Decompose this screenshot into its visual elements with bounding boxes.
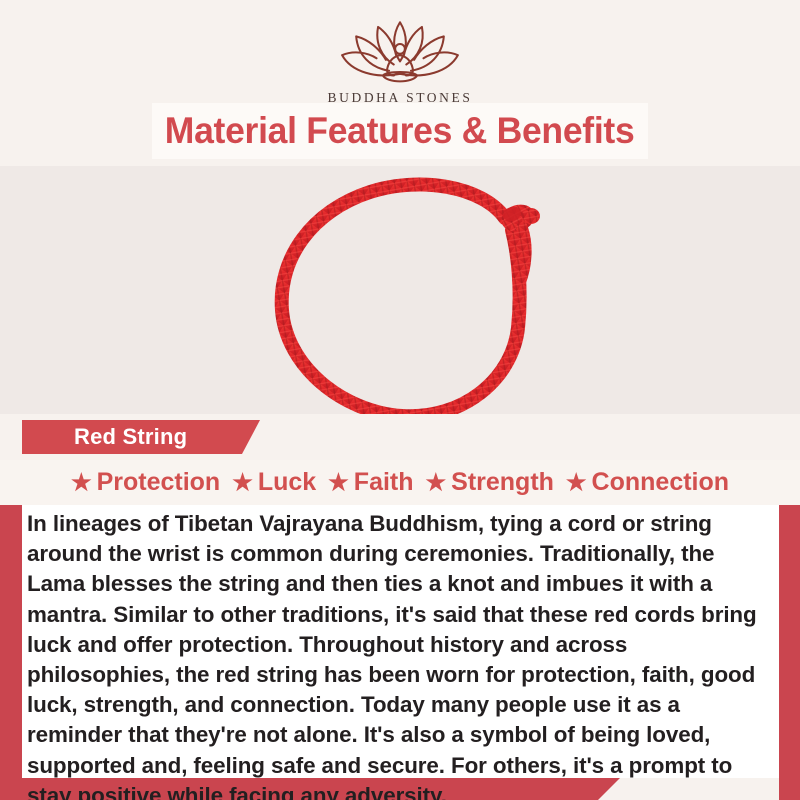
star-icon: ★ (71, 471, 92, 494)
lotus-meditation-figure-icon (320, 16, 480, 88)
feature-label: Connection (592, 468, 730, 497)
brand-logo: BUDDHA STONES (0, 16, 800, 106)
description-text: In lineages of Tibetan Vajrayana Buddhis… (27, 509, 772, 800)
feature-label: Strength (451, 468, 554, 497)
feature-item-protection: ★ Protection (71, 468, 220, 497)
star-icon: ★ (566, 471, 587, 494)
infographic-page: BUDDHA STONES Material Features & Benefi… (0, 0, 800, 800)
title-banner: Material Features & Benefits (152, 103, 648, 159)
feature-item-luck: ★ Luck (232, 468, 316, 497)
product-photo-band (0, 166, 800, 414)
feature-label: Faith (354, 468, 414, 497)
feature-item-faith: ★ Faith (328, 468, 413, 497)
description-panel: In lineages of Tibetan Vajrayana Buddhis… (22, 505, 779, 778)
feature-item-connection: ★ Connection (566, 468, 729, 497)
feature-label: Protection (97, 468, 221, 497)
product-label-zone: Red String (0, 414, 800, 460)
product-label-ribbon: Red String (22, 420, 260, 454)
star-icon: ★ (328, 471, 349, 494)
feature-list: ★ Protection ★ Luck ★ Faith ★ Strength ★… (0, 460, 800, 505)
feature-item-strength: ★ Strength (426, 468, 554, 497)
star-icon: ★ (426, 471, 447, 494)
star-icon: ★ (232, 471, 253, 494)
page-title: Material Features & Benefits (165, 110, 635, 152)
feature-label: Luck (258, 468, 316, 497)
red-string-bracelet-image (250, 170, 570, 414)
product-label-text: Red String (74, 424, 187, 450)
